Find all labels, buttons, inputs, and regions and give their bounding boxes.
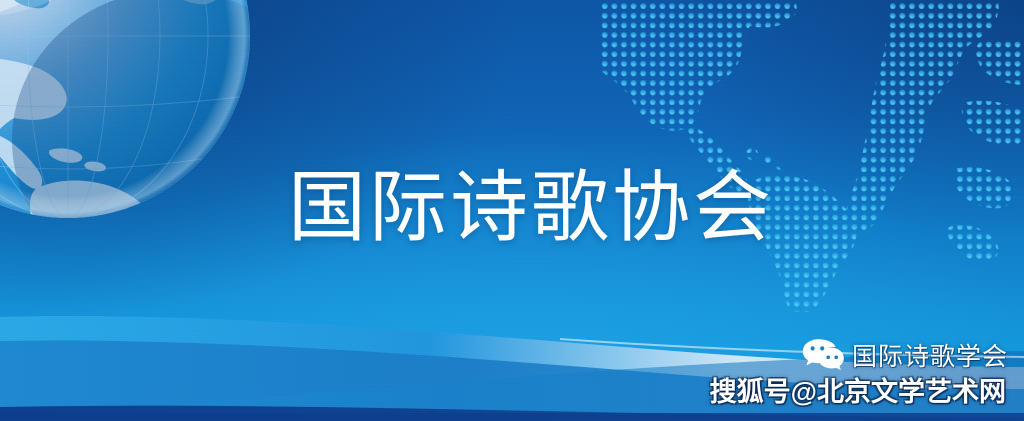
watermark-account-name: 国际诗歌学会 [852, 337, 1008, 373]
page-title: 国际诗歌协会 [288, 168, 774, 246]
wechat-icon [802, 338, 846, 372]
poetry-association-banner: 国际诗歌协会 国际诗歌学会 搜狐号@北京文学艺术网 [0, 0, 1024, 421]
watermark-source-line: 搜狐号@北京文学艺术网 [710, 370, 1006, 409]
watermark: 国际诗歌学会 搜狐号@北京文学艺术网 [758, 337, 1008, 409]
watermark-account-row: 国际诗歌学会 [802, 337, 1008, 373]
globe-graphic [0, 0, 254, 222]
